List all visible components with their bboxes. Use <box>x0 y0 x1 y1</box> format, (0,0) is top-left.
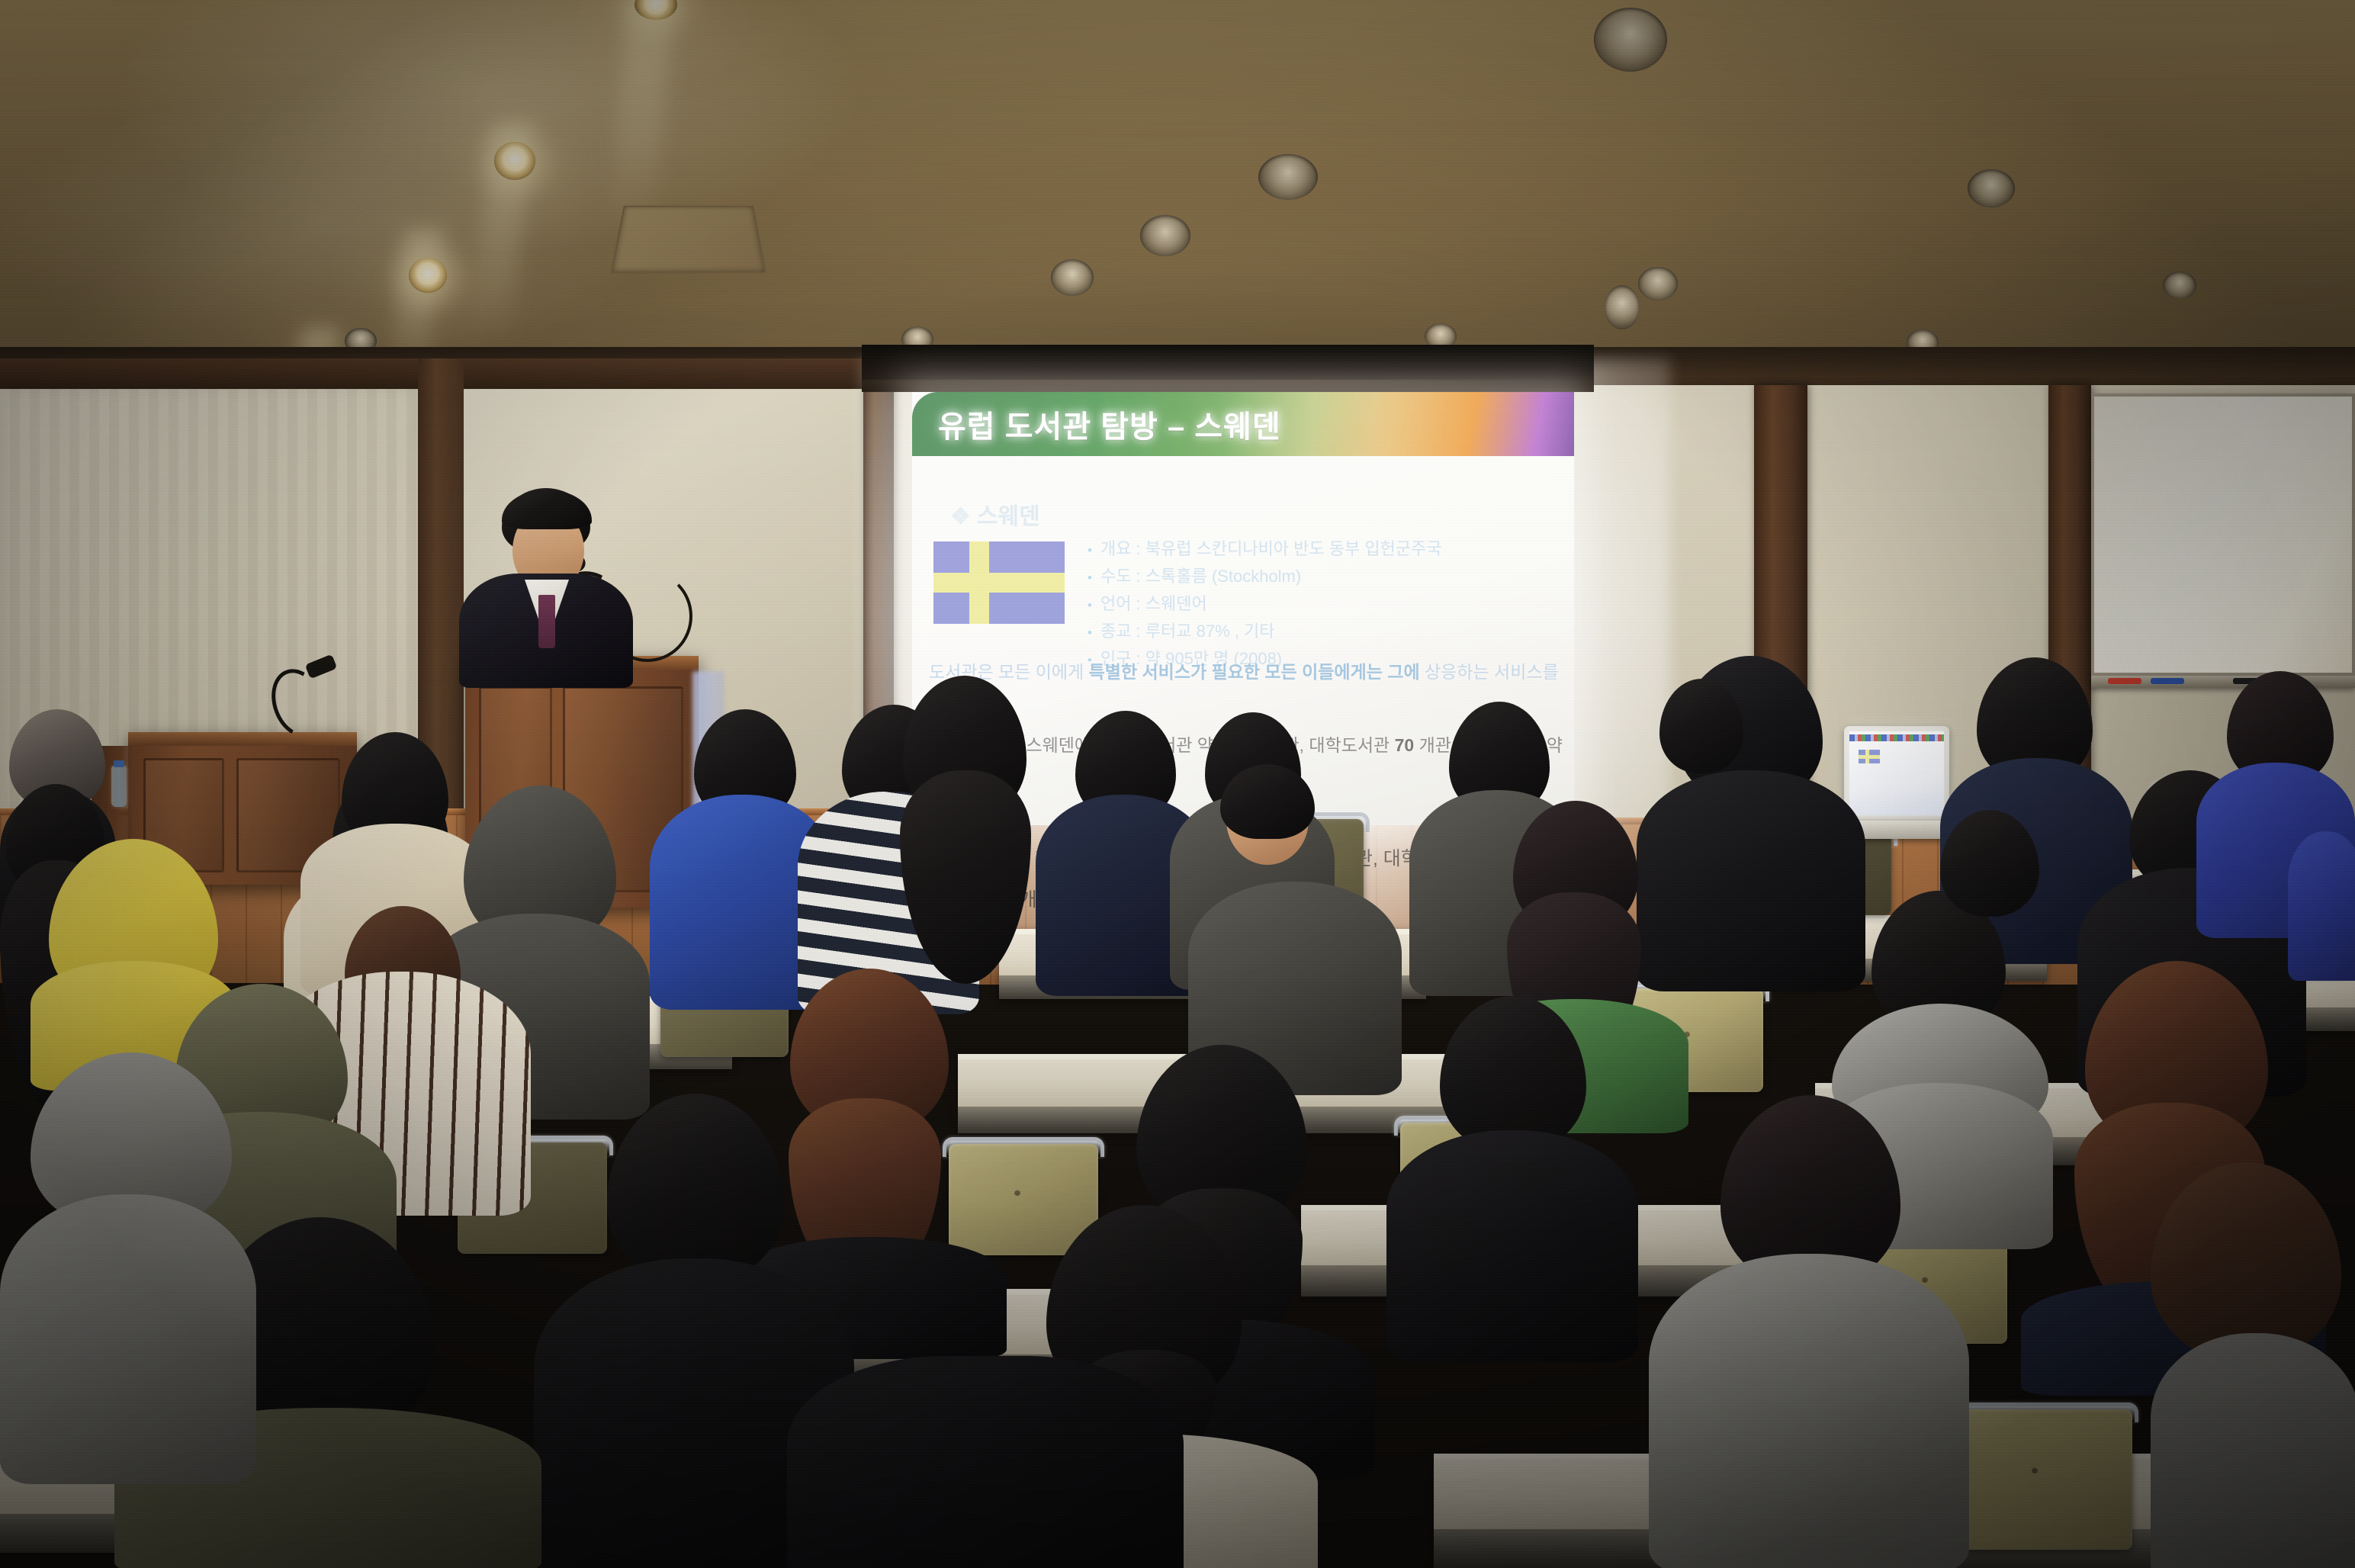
bullet-dot-icon: • <box>1088 570 1092 586</box>
ceiling-vent <box>611 206 767 274</box>
slide-bullet-list: • 개요 : 북유럽 스칸디나비아 반도 동부 입헌군주국 • 수도 : 스톡홀… <box>1088 535 1566 673</box>
head <box>1940 810 2039 917</box>
bullet-dot-icon: • <box>1088 598 1092 613</box>
torso <box>0 1194 256 1484</box>
slide-bullet: • 언어 : 스웨덴어 <box>1088 590 1566 615</box>
ceiling-downlight <box>1594 8 1667 72</box>
ceiling-downlight <box>2163 272 2196 299</box>
presenter-tie <box>538 595 555 648</box>
torso <box>2288 831 2355 981</box>
slide-paragraph-highlight: 특별한 서비스가 필요한 모든 이들에게는 그에 <box>1089 662 1420 682</box>
audience-member <box>1188 767 1402 1088</box>
presenter <box>455 488 638 686</box>
audience-member <box>0 1052 252 1480</box>
long-hair <box>900 770 1031 984</box>
lecture-hall-scene: 2008년 현재 스웨덴에는 공공도서관 약 1,300 개관, 대학도서관 약… <box>0 0 2355 1568</box>
audience-member <box>1649 1095 1969 1568</box>
slide-bullet-text: 개요 : 북유럽 스칸디나비아 반도 동부 입헌군주국 <box>1100 535 1442 560</box>
ceiling-downlight <box>1968 169 2015 207</box>
slide-title: 유럽 도서관 탐방 – 스웨덴 <box>938 402 1281 446</box>
slide-title-bar: 유럽 도서관 탐방 – 스웨덴 <box>912 392 1574 456</box>
screen-valance <box>862 345 1594 392</box>
torso <box>2151 1333 2355 1568</box>
bullet-dot-icon: • <box>1088 543 1092 558</box>
ceiling-downlight <box>409 258 447 293</box>
bullet-dot-icon: • <box>1088 625 1092 641</box>
marker-blue[interactable] <box>2151 678 2184 684</box>
diamond-bullet-icon: ❖ <box>950 504 969 529</box>
ceiling-downlight <box>494 142 535 180</box>
slide-section-heading: ❖스웨덴 <box>950 497 1040 531</box>
head <box>2151 1162 2341 1361</box>
torso <box>1649 1254 1969 1568</box>
slide-bullet-text: 수도 : 스톡홀름 (Stockholm) <box>1100 563 1301 587</box>
audience-chair[interactable] <box>1952 1409 2132 1550</box>
audience-member <box>2151 1162 2355 1568</box>
slide-bullet: • 개요 : 북유럽 스칸디나비아 반도 동부 입헌군주국 <box>1088 535 1566 560</box>
audience-member <box>787 1310 1184 1568</box>
slide-bullet: • 종교 : 루터교 87% , 기타 <box>1088 618 1566 642</box>
swedish-flag-icon <box>933 541 1065 624</box>
audience-member <box>2288 831 2355 976</box>
slide-bullet-text: 언어 : 스웨덴어 <box>1100 590 1207 615</box>
audience-member <box>1386 996 1638 1354</box>
slide-bullet: • 수도 : 스톡홀름 (Stockholm) <box>1088 563 1566 587</box>
slide-section-heading-text: 스웨덴 <box>977 504 1040 529</box>
whiteboard[interactable] <box>2091 394 2355 676</box>
ceiling-downlight <box>1051 259 1094 296</box>
ceiling-downlight <box>1605 285 1640 329</box>
head <box>1659 679 1743 773</box>
audience-member <box>1925 810 2055 962</box>
ceiling-downlight <box>1140 215 1190 256</box>
presenter-hair-top <box>502 490 592 529</box>
audience-member <box>866 676 1057 1011</box>
torso <box>787 1356 1184 1568</box>
ceiling-downlight <box>1638 267 1678 300</box>
torso <box>1386 1130 1638 1362</box>
slide-bullet-text: 종교 : 루터교 87% , 기타 <box>1100 618 1275 642</box>
ceiling-downlight <box>1258 154 1318 200</box>
head <box>607 1094 784 1284</box>
